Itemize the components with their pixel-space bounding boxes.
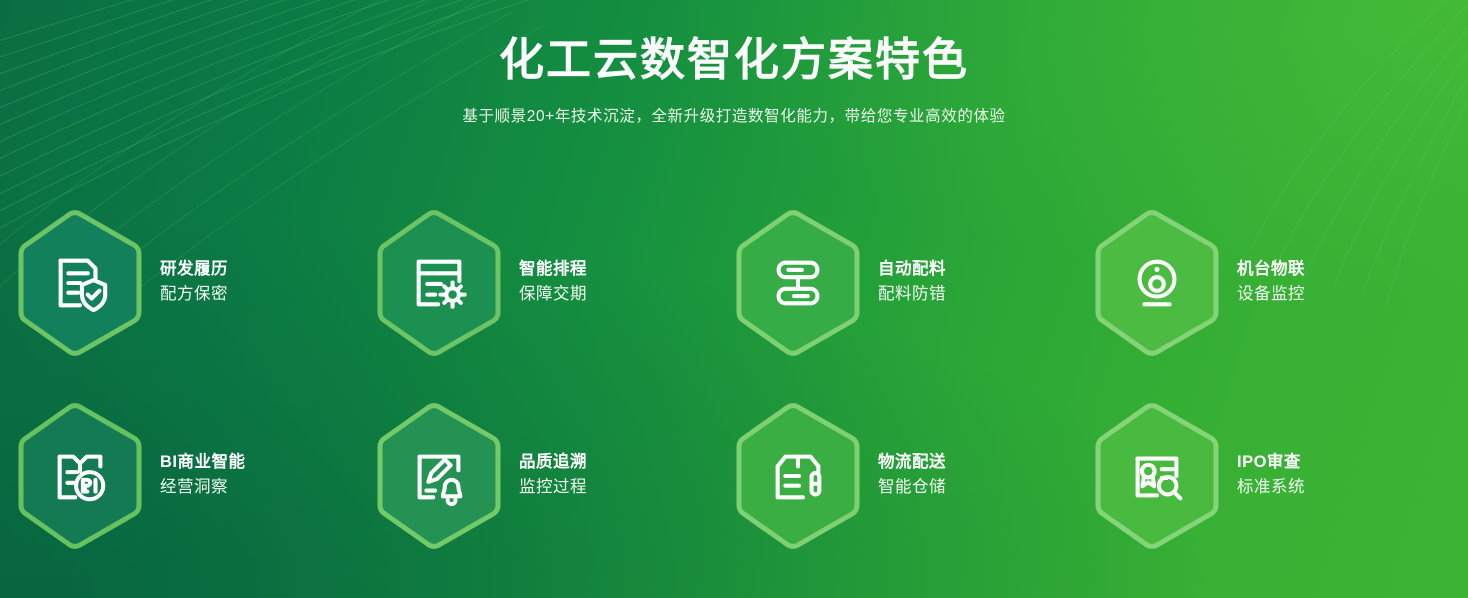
feature-line-primary: 自动配料 xyxy=(878,261,946,278)
feature-line-primary: 智能排程 xyxy=(519,261,587,278)
feature-item[interactable]: IPO审查 标准系统 xyxy=(1093,379,1452,572)
feature-line-secondary: 配方保密 xyxy=(160,286,228,303)
hexagon-badge xyxy=(734,403,862,549)
hexagon-badge xyxy=(375,403,503,549)
banner-header: 化工云数智化方案特色 基于顺景20+年技术沉淀，全新升级打造数智化能力，带给您专… xyxy=(0,0,1468,127)
promo-banner: 化工云数智化方案特色 基于顺景20+年技术沉淀，全新升级打造数智化能力，带给您专… xyxy=(0,0,1468,598)
feature-line-secondary: 智能仓储 xyxy=(878,479,946,496)
feature-label: 智能排程 保障交期 xyxy=(519,261,587,305)
hexagon-badge xyxy=(1093,403,1221,549)
feature-line-primary: 研发履历 xyxy=(160,261,228,278)
feature-grid: 研发履历 配方保密 xyxy=(16,186,1452,572)
feature-label: 机台物联 设备监控 xyxy=(1237,261,1305,305)
hexagon-badge xyxy=(1093,210,1221,356)
document-gear-icon xyxy=(408,252,470,314)
hexagon-badge xyxy=(16,403,144,549)
feature-line-secondary: 标准系统 xyxy=(1237,479,1305,496)
feature-line-primary: 物流配送 xyxy=(878,454,946,471)
feature-label: 品质追溯 监控过程 xyxy=(519,454,587,498)
hexagon-badge xyxy=(375,210,503,356)
feature-line-secondary: 设备监控 xyxy=(1237,286,1305,303)
feature-line-primary: 机台物联 xyxy=(1237,261,1305,278)
feature-label: BI商业智能 经营洞察 xyxy=(160,454,246,498)
feature-label: IPO审查 标准系统 xyxy=(1237,454,1305,498)
hexagon-badge xyxy=(734,210,862,356)
feature-item[interactable]: 智能排程 保障交期 xyxy=(375,186,734,379)
feature-item[interactable]: 物流配送 智能仓储 xyxy=(734,379,1093,572)
stacked-containers-icon xyxy=(767,252,829,314)
feature-line-secondary: 经营洞察 xyxy=(160,479,246,496)
feature-line-primary: BI商业智能 xyxy=(160,454,246,471)
feature-line-secondary: 监控过程 xyxy=(519,479,587,496)
feature-line-secondary: 配料防错 xyxy=(878,286,946,303)
page-title: 化工云数智化方案特色 xyxy=(0,0,1468,86)
feature-item[interactable]: BI商业智能 经营洞察 xyxy=(16,379,375,572)
screen-pen-bell-icon xyxy=(408,445,470,507)
report-bi-icon xyxy=(49,445,111,507)
hexagon-badge xyxy=(16,210,144,356)
feature-item[interactable]: 机台物联 设备监控 xyxy=(1093,186,1452,379)
feature-item[interactable]: 研发履历 配方保密 xyxy=(16,186,375,379)
feature-label: 物流配送 智能仓储 xyxy=(878,454,946,498)
feature-item[interactable]: 品质追溯 监控过程 xyxy=(375,379,734,572)
package-pen-icon xyxy=(767,445,829,507)
feature-label: 自动配料 配料防错 xyxy=(878,261,946,305)
page-subtitle: 基于顺景20+年技术沉淀，全新升级打造数智化能力，带给您专业高效的体验 xyxy=(0,86,1468,128)
feature-line-secondary: 保障交期 xyxy=(519,286,587,303)
camera-monitor-icon xyxy=(1126,252,1188,314)
feature-line-primary: 品质追溯 xyxy=(519,454,587,471)
feature-item[interactable]: 自动配料 配料防错 xyxy=(734,186,1093,379)
certificate-search-icon xyxy=(1126,445,1188,507)
feature-label: 研发履历 配方保密 xyxy=(160,261,228,305)
feature-line-primary: IPO审查 xyxy=(1237,454,1305,471)
document-shield-icon xyxy=(49,252,111,314)
